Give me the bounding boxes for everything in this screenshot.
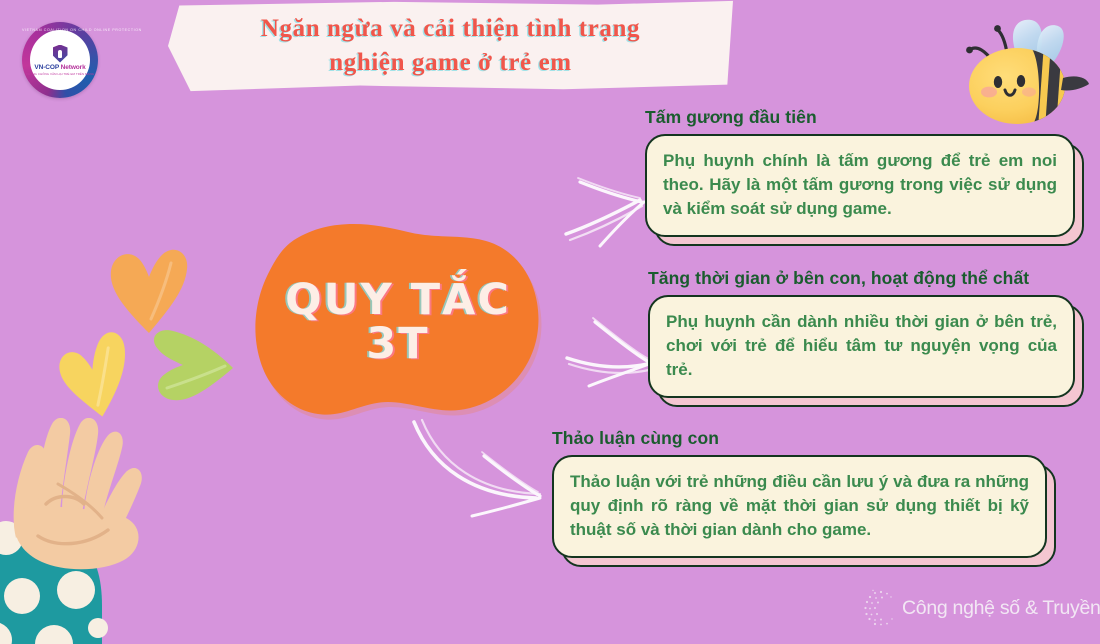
item-3-card-wrap: Thảo luận với trẻ những điều cần lưu ý v… <box>552 455 1047 558</box>
heart-orange-icon <box>105 245 191 337</box>
logo-inner-disc: VN-COP Network PHÒNG CHỐNG XÂM HẠI TRẺ E… <box>30 30 90 90</box>
logo-ring-text: VIETNAM COALITION ON CHILD ONLINE PROTEC… <box>22 28 98 32</box>
logo-brand: VN-COP Network <box>34 64 85 71</box>
item-block-3: Thảo luận cùng con Thảo luận với trẻ nhữ… <box>552 428 1047 558</box>
item-block-2: Tăng thời gian ở bên con, hoạt động thể … <box>648 268 1075 398</box>
heart-yellow-icon <box>58 327 136 419</box>
central-badge: QUY TẮC 3T <box>248 222 548 424</box>
item-2-card: Phụ huynh cần dành nhiều thời gian ở bên… <box>648 295 1075 398</box>
item-block-1: Tấm gương đầu tiên Phụ huynh chính là tấ… <box>645 107 1075 237</box>
blob-shape <box>248 222 548 424</box>
globe-dots-icon <box>862 588 900 628</box>
item-2-heading: Tăng thời gian ở bên con, hoạt động thể … <box>648 268 1075 289</box>
logo-tagline: PHÒNG CHỐNG XÂM HẠI TRẺ EM TRÊN MẠNG <box>26 72 94 76</box>
vncop-logo: VIETNAM COALITION ON CHILD ONLINE PROTEC… <box>22 22 98 98</box>
item-3-body: Thảo luận với trẻ những điều cần lưu ý v… <box>570 470 1029 542</box>
watermark: Công nghệ số & Truyền thông <box>862 586 1094 630</box>
item-1-card: Phụ huynh chính là tấm gương để trẻ em n… <box>645 134 1075 237</box>
logo-brand-prefix: VN-COP <box>34 64 59 71</box>
item-3-heading: Thảo luận cùng con <box>552 428 1047 449</box>
title-banner: Ngăn ngừa và cải thiện tình trạng nghiện… <box>168 0 733 92</box>
item-1-heading: Tấm gương đầu tiên <box>645 107 1075 128</box>
key-icon <box>58 50 62 58</box>
shield-icon <box>53 45 68 63</box>
item-3-card: Thảo luận với trẻ những điều cần lưu ý v… <box>552 455 1047 558</box>
watermark-text: Công nghệ số & Truyền thông <box>902 597 1100 620</box>
arrow-3-icon <box>402 412 574 524</box>
page-title-line-2: nghiện game ở trẻ em <box>329 49 571 77</box>
infographic-poster: VIETNAM COALITION ON CHILD ONLINE PROTEC… <box>0 0 1100 644</box>
item-2-body: Phụ huynh cần dành nhiều thời gian ở bên… <box>666 310 1057 382</box>
item-1-body: Phụ huynh chính là tấm gương để trẻ em n… <box>663 149 1057 221</box>
heart-green-icon <box>145 330 237 408</box>
waving-hand-icon <box>0 418 166 644</box>
item-2-card-wrap: Phụ huynh cần dành nhiều thời gian ở bên… <box>648 295 1075 398</box>
logo-brand-suffix: Network <box>59 64 86 71</box>
page-title-line-1: Ngăn ngừa và cải thiện tình trạng <box>261 15 640 43</box>
item-1-card-wrap: Phụ huynh chính là tấm gương để trẻ em n… <box>645 134 1075 237</box>
